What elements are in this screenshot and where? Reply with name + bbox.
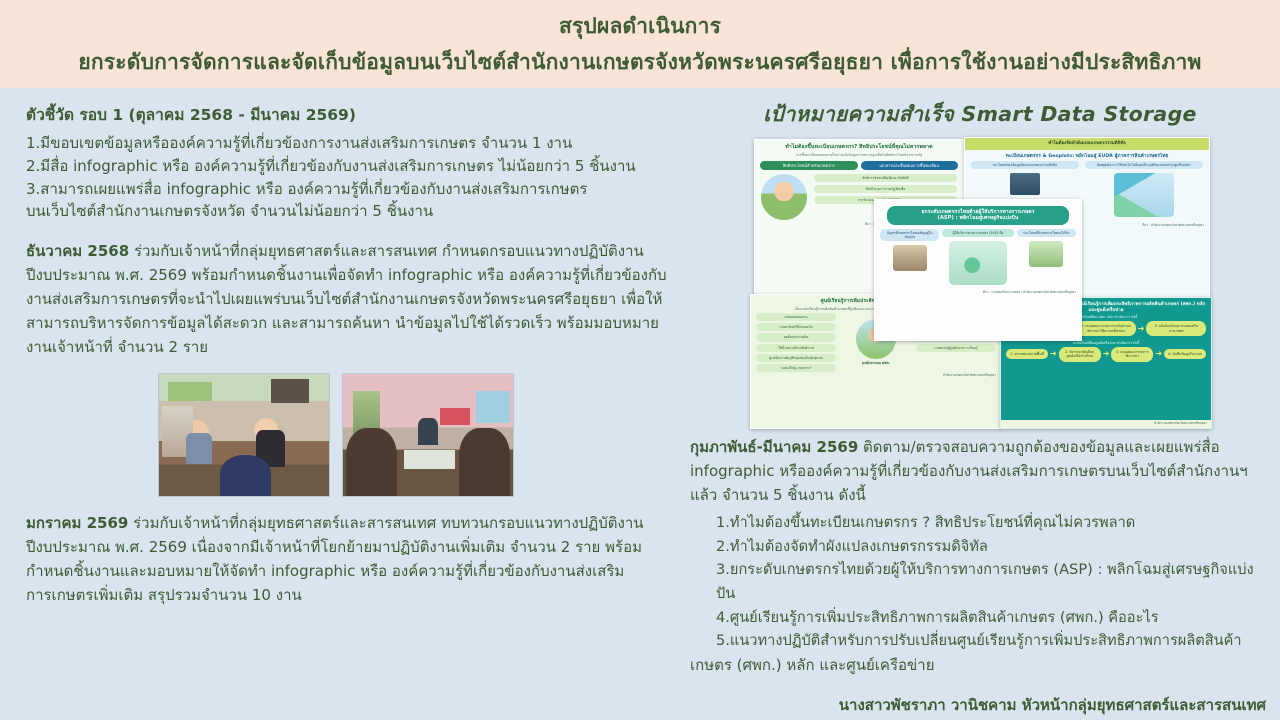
card-c-left-item: เกษตรอินทรีย์/ปลอดภัย (756, 323, 836, 331)
card-c-footer: สำนักงานเกษตรจังหวัดพระนครศรีอยุธยา (751, 372, 1001, 380)
card-e-center-header: ผู้ให้บริการทางการเกษตร (ASP) คือ (942, 229, 1013, 237)
card-c-left-item: เกษตรผสมผสาน (756, 313, 836, 321)
arrow-right-icon: ➜ (1138, 325, 1145, 333)
asp-platform-illustration (949, 241, 1007, 285)
december-paragraph: ธันวาคม 2568 ร่วมกับเจ้าหน้าที่กลุ่มยุทธ… (26, 239, 676, 359)
list-item: 4.ศูนย์เรียนรู้การเพิ่มประสิทธิภาพการผลิ… (716, 606, 1270, 630)
card-b-col1-header: ประโยชน์ของข้อมูลผังแปลงเกษตรกรรมดิจิทัล (971, 161, 1079, 169)
card-c-wheel-label: องค์ประกอบ ศพก. (840, 361, 912, 365)
signature-line: นางสาวพัชราภา วานิชคาม หัวหน้ากลุ่มยุทธศ… (690, 693, 1270, 717)
geoplot-layers-icon (1114, 173, 1174, 217)
card-c-left-item: ลดต้นทุนการผลิต (756, 333, 836, 341)
kpi-item: 1.มีขอบเขตข้อมูลหรือองค์ความรู้ที่เกี่ยว… (26, 132, 676, 155)
problem-illustration (893, 245, 927, 271)
card-c-left-item: "แปลงใหญ่ เกษตรกร" (756, 364, 836, 372)
card-a-left-header: สิทธิประโยชน์สำหรับเกษตรกร (760, 161, 858, 170)
card-b-title: ทำไมต้องจัดทำผังแปลงเกษตรกรรมดิจิทัล (965, 138, 1209, 150)
benefit-illustration (1029, 241, 1063, 267)
card-a-subtitle: การขึ้นทะเบียนเกษตรกรเป็นการแจ้งข้อมูลกา… (760, 153, 958, 157)
february-march-paragraph: กุมภาพันธ์-มีนาคม 2569 ติดตาม/ตรวจสอบควา… (690, 435, 1270, 507)
list-item-continuation: เกษตร (ศพก.) หลัก และศูนย์เครือข่าย (690, 653, 1270, 677)
card-e-right-header: ประโยชน์ที่เกษตรกรไทยจะได้รับ (1017, 229, 1076, 237)
list-item: 3.ยกระดับเกษตรกรไทยด้วยผู้ให้บริการทางกา… (716, 558, 1270, 605)
page-title-line1: สรุปผลดำเนินการ (559, 10, 721, 43)
card-d-step: 2. เสนอคณะกรรมการระดับอำเภอพิจารณาให้ควา… (1076, 321, 1136, 336)
left-column: ตัวชี้วัด รอบ 1 (ตุลาคม 2568 - มีนาคม 25… (0, 88, 690, 720)
kpi-section-title: ตัวชี้วัด รอบ 1 (ตุลาคม 2568 - มีนาคม 25… (26, 102, 676, 127)
meeting-photo-2 (342, 373, 514, 497)
arrow-right-icon: ➜ (1103, 350, 1110, 358)
card-d-section2-label: กรณีปรับเปลี่ยนศูนย์เครือข่าย ดำเนินการ … (1006, 341, 1206, 345)
card-c-left-item: ศูนย์จัดการศัตรูพืชชุมชน/ดินปุ๋ยชุมชน (756, 354, 836, 362)
card-a-bullet: สิทธิโครงการภาครัฐ/สินเชื่อ (814, 185, 957, 193)
card-d-footer: สำนักงานเกษตรจังหวัดพระนครศรีอยุธยา (1005, 422, 1207, 426)
card-e-left-header: ปัญหาที่เกษตรกรไทยเผชิญอยู่ในปัจจุบัน (880, 229, 939, 241)
list-item: 1.ทำไมต้องขึ้นทะเบียนเกษตรกร ? สิทธิประโ… (716, 511, 1270, 535)
card-d-step: 2. พิจารณาคัดเลือกศูนย์เครือข่ายใหม่ (1059, 347, 1101, 362)
page-title-line2: ยกระดับการจัดการและจัดเก็บข้อมูลบนเว็บไซ… (78, 46, 1201, 79)
january-paragraph: มกราคม 2569 ร่วมกับเจ้าหน้าที่กลุ่มยุทธศ… (26, 511, 676, 607)
meeting-photo-1 (158, 373, 330, 497)
card-e-footer: ที่มา : กรมส่งเสริมการเกษตร / สำนักงานเก… (875, 289, 1081, 297)
infographic-card-asp[interactable]: ยกระดับเกษตรกรไทยด้วยผู้ให้บริการทางการเ… (874, 199, 1082, 341)
infographic-collage: ทำไมต้องขึ้นทะเบียนเกษตรกร? สิทธิประโยชน… (750, 137, 1210, 427)
goal-section-title: เป้าหมายความสำเร็จ Smart Data Storage (690, 98, 1270, 131)
card-d-step: 3. แจ้งจังหวัดและกรมส่งเสริมการเกษตร (1146, 321, 1206, 336)
card-e-title2: (ASP) : พลิกโฉมสู่เศรษฐกิจแบ่งปัน (891, 215, 1065, 221)
farmer-illustration (761, 174, 807, 220)
february-march-label: กุมภาพันธ์-มีนาคม 2569 (690, 438, 858, 456)
card-c-right-item: เกษตรกรสู่ศูนย์กลางการเรียนรู้ (916, 344, 996, 352)
kpi-item: 2.มีสื่อ infographic หรือ องค์ความรู้ที่… (26, 155, 676, 178)
january-label: มกราคม 2569 (26, 514, 128, 532)
tablet-icon (1010, 173, 1040, 195)
list-item: 2.ทำไมต้องจัดทำผังแปลงเกษตรกรรมดิจิทัล (716, 535, 1270, 559)
card-d-step: 1. ตรวจสอบสภาพพื้นที่ (1006, 349, 1048, 359)
arrow-right-icon: ➜ (1050, 350, 1057, 358)
card-b-subtitle: ทะเบียนเกษตรกร & Geoplots: พลิกโฉมสู่ EU… (970, 154, 1204, 160)
card-a-title: ทำไมต้องขึ้นทะเบียนเกษตรกร? สิทธิประโยชน… (760, 144, 958, 151)
page-header: สรุปผลดำเนินการ ยกระดับการจัดการและจัดเก… (0, 0, 1280, 88)
card-c-left-item: ใช้น้ำอย่างมีประสิทธิภาพ (756, 344, 836, 352)
kpi-item: บนเว็บไซต์สำนักงานเกษตรจังหวัด จำนวนไม่น… (26, 200, 676, 223)
list-item: 5.แนวทางปฏิบัติสำหรับการปรับเปลี่ยนศูนย์… (716, 629, 1270, 653)
card-d-step: 4. บันทึกข้อมูลในระบบ (1164, 349, 1206, 359)
card-b-col2-header: Geoplots การใช้เทคโนโลยีแผนที่ระบุพิกัดแ… (1085, 161, 1203, 169)
photo-row (158, 373, 676, 497)
arrow-right-icon: ➜ (1155, 350, 1162, 358)
kpi-item: 3.สามารถเผยแพร่สื่อ infographic หรือ องค… (26, 178, 676, 201)
december-label: ธันวาคม 2568 (26, 242, 129, 260)
card-a-bullet: สิทธิการช่วยเหลือเยียวยาภัยพิบัติ (814, 174, 957, 182)
card-a-right-header: เอกสารและขั้นตอนการขึ้นทะเบียน (861, 161, 959, 170)
published-works-list: 1.ทำไมต้องขึ้นทะเบียนเกษตรกร ? สิทธิประโ… (690, 511, 1270, 653)
card-d-step: 3. เสนอคณะกรรมการพิจารณา (1111, 347, 1153, 362)
right-column: เป้าหมายความสำเร็จ Smart Data Storage ทำ… (690, 88, 1280, 720)
